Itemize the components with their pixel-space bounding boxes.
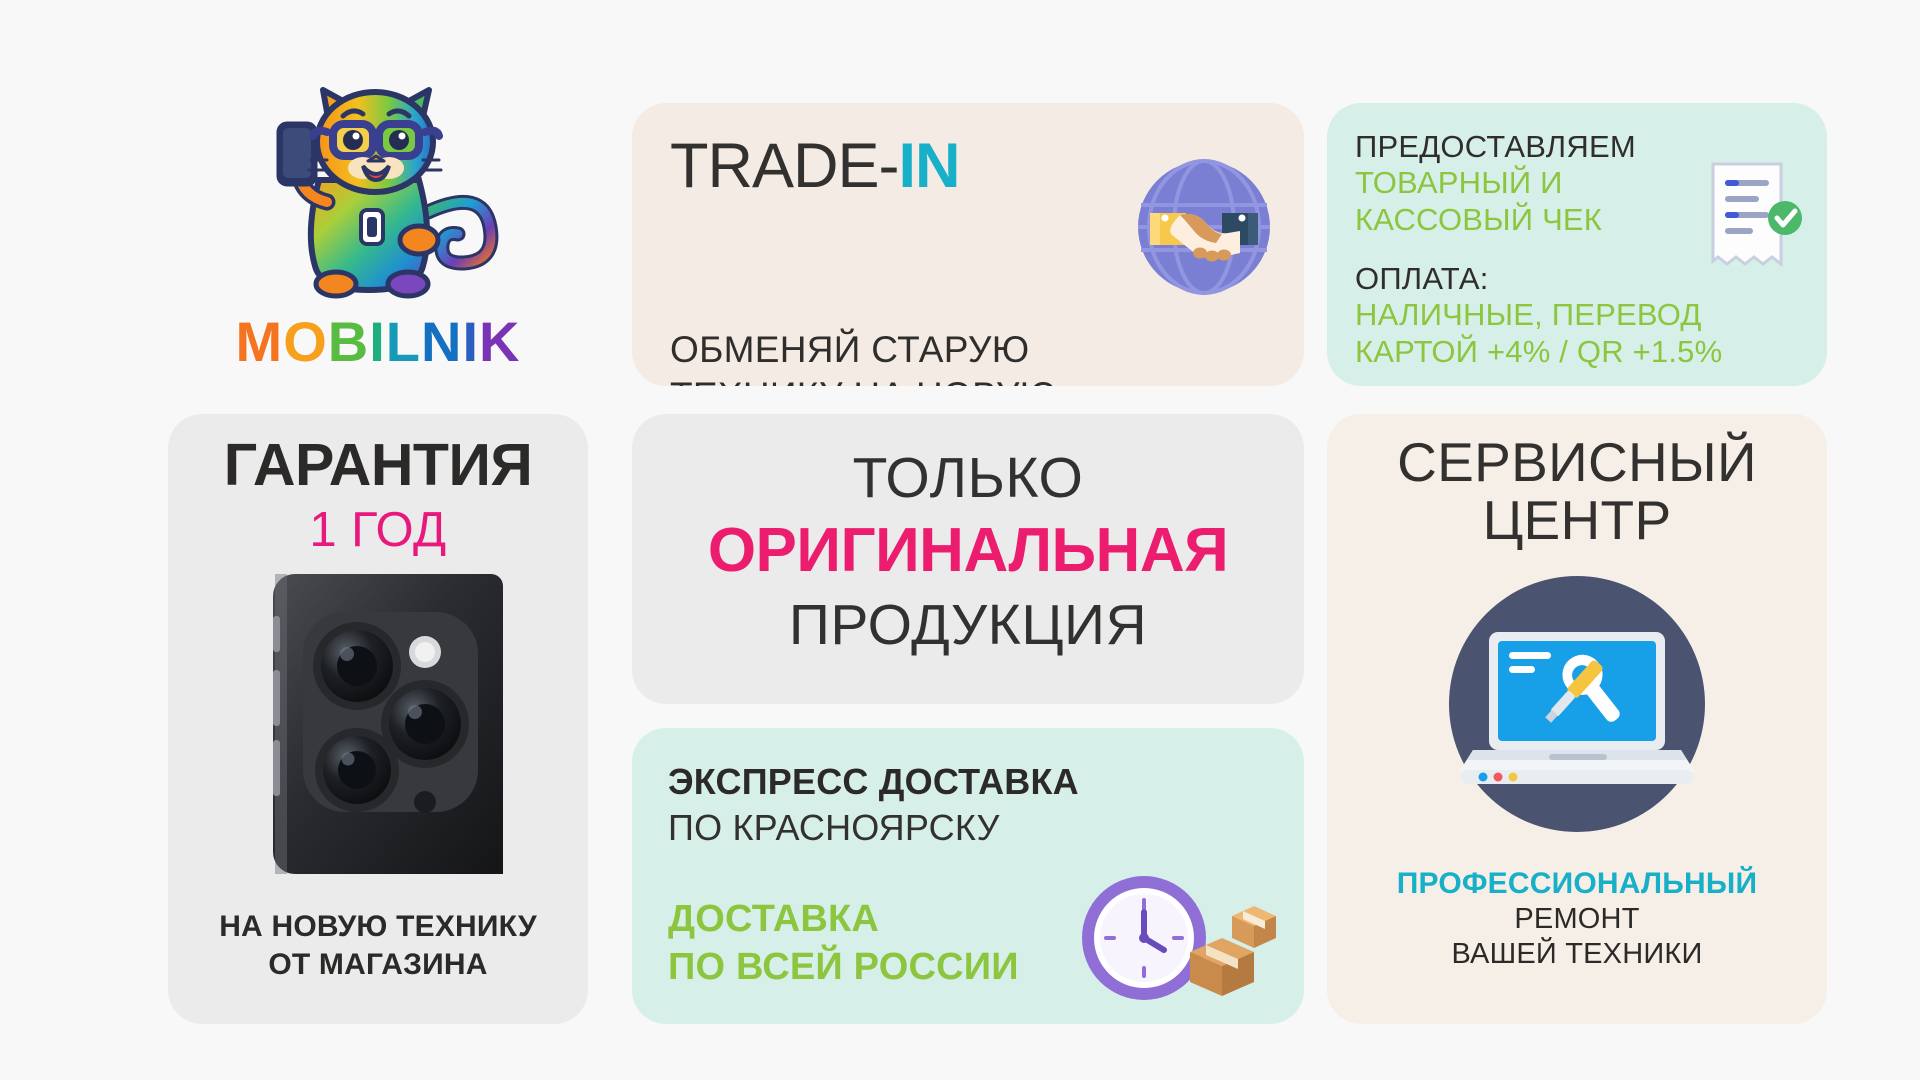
service-footer-line-1: ПРОФЕССИОНАЛЬНЫЙ	[1327, 866, 1827, 902]
delivery-line-3: ДОСТАВКА	[668, 896, 1019, 944]
trade-in-line-1: ОБМЕНЯЙ СТАРУЮ	[670, 327, 1233, 373]
brand-letter-3: I	[369, 314, 386, 370]
service-heading-line-1: СЕРВИСНЫЙ	[1327, 434, 1827, 492]
receipt-text-block: ПРЕДОСТАВЛЯЕМ ТОВАРНЫЙ И КАССОВЫЙ ЧЕК	[1355, 129, 1636, 238]
rainbow-cat-with-phone-icon	[223, 62, 523, 312]
card-warranty[interactable]: ГАРАНТИЯ 1 ГОД	[168, 414, 588, 1024]
delivery-line-1: ЭКСПРЕСС ДОСТАВКА	[668, 764, 1079, 800]
brand-letter-5: N	[421, 314, 462, 370]
delivery-line-2: ПО КРАСНОЯРСКУ	[668, 810, 1000, 846]
brand-letter-2: B	[328, 314, 369, 370]
laptop-repair-tools-icon	[1445, 572, 1710, 837]
brand-letter-7: K	[479, 314, 520, 370]
warranty-footer: НА НОВУЮ ТЕХНИКУ ОТ МАГАЗИНА	[168, 908, 588, 985]
payment-methods-1: НАЛИЧНЫЕ, ПЕРЕВОД	[1355, 297, 1722, 333]
trade-in-line-2: ТЕХНИКУ НА НОВУЮ	[670, 373, 1233, 387]
warranty-footer-line-2: ОТ МАГАЗИНА	[168, 946, 588, 984]
trade-in-title: TRADE-IN	[670, 135, 960, 198]
service-heading-line-2: ЦЕНТР	[1327, 492, 1827, 550]
warranty-period: 1 ГОД	[168, 506, 588, 555]
card-trade-in[interactable]: TRADE-IN ОБМЕНЯЙ СТАРУЮ ТЕХНИКУ НА НОВУЮ…	[632, 103, 1304, 386]
brand-wordmark: MOBILNIK	[168, 314, 588, 370]
brand-letter-1: O	[283, 314, 328, 370]
delivery-russia-block: ДОСТАВКА ПО ВСЕЙ РОССИИ	[668, 896, 1019, 991]
warranty-footer-line-1: НА НОВУЮ ТЕХНИКУ	[168, 908, 588, 946]
brand-letter-4: L	[386, 314, 421, 370]
receipt-line-1: ПРЕДОСТАВЛЯЕМ	[1355, 129, 1636, 165]
promo-banner: MOBILNIK TRADE-IN ОБМЕНЯЙ СТАРУЮ ТЕХНИКУ…	[0, 0, 1920, 1080]
receipt-check-icon	[1699, 158, 1807, 283]
service-footer-line-3: ВАШЕЙ ТЕХНИКИ	[1327, 937, 1827, 972]
clock-parcels-icon	[1072, 868, 1292, 1008]
original-line-2: ОРИГИНАЛЬНАЯ	[632, 520, 1304, 582]
receipt-line-2: ТОВАРНЫЙ И	[1355, 165, 1636, 201]
original-line-1: ТОЛЬКО	[632, 450, 1304, 507]
card-delivery[interactable]: ЭКСПРЕСС ДОСТАВКА ПО КРАСНОЯРСКУ ДОСТАВК…	[632, 728, 1304, 1024]
delivery-line-4: ПО ВСЕЙ РОССИИ	[668, 944, 1019, 992]
iphone-camera-module-icon	[273, 574, 503, 874]
brand-logo: MOBILNIK	[168, 62, 588, 382]
card-receipt-payment[interactable]: ПРЕДОСТАВЛЯЕМ ТОВАРНЫЙ И КАССОВЫЙ ЧЕК ОП…	[1327, 103, 1827, 386]
card-service-center[interactable]: СЕРВИСНЫЙ ЦЕНТР	[1327, 414, 1827, 1024]
receipt-line-3: КАССОВЫЙ ЧЕК	[1355, 202, 1636, 238]
trade-in-title-accent: IN	[899, 131, 960, 201]
payment-methods-2: КАРТОЙ +4% / QR +1.5%	[1355, 334, 1722, 370]
brand-letter-6: I	[462, 314, 479, 370]
warranty-heading: ГАРАНТИЯ	[168, 436, 588, 495]
service-footer-line-2: РЕМОНТ	[1327, 902, 1827, 937]
original-line-3: ПРОДУКЦИЯ	[632, 597, 1304, 654]
brand-letter-0: M	[236, 314, 284, 370]
payment-label: ОПЛАТА:	[1355, 261, 1722, 297]
card-original-product[interactable]: ТОЛЬКО ОРИГИНАЛЬНАЯ ПРОДУКЦИЯ	[632, 414, 1304, 704]
trade-in-title-main: TRADE-	[670, 131, 899, 201]
trade-in-body: ОБМЕНЯЙ СТАРУЮ ТЕХНИКУ НА НОВУЮ И ПОЛУЧИ…	[670, 327, 1233, 386]
payment-text-block: ОПЛАТА: НАЛИЧНЫЕ, ПЕРЕВОД КАРТОЙ +4% / Q…	[1355, 261, 1722, 370]
service-footer: ПРОФЕССИОНАЛЬНЫЙ РЕМОНТ ВАШЕЙ ТЕХНИКИ	[1327, 866, 1827, 972]
service-heading: СЕРВИСНЫЙ ЦЕНТР	[1327, 434, 1827, 550]
handshake-globe-icon	[1132, 155, 1277, 300]
